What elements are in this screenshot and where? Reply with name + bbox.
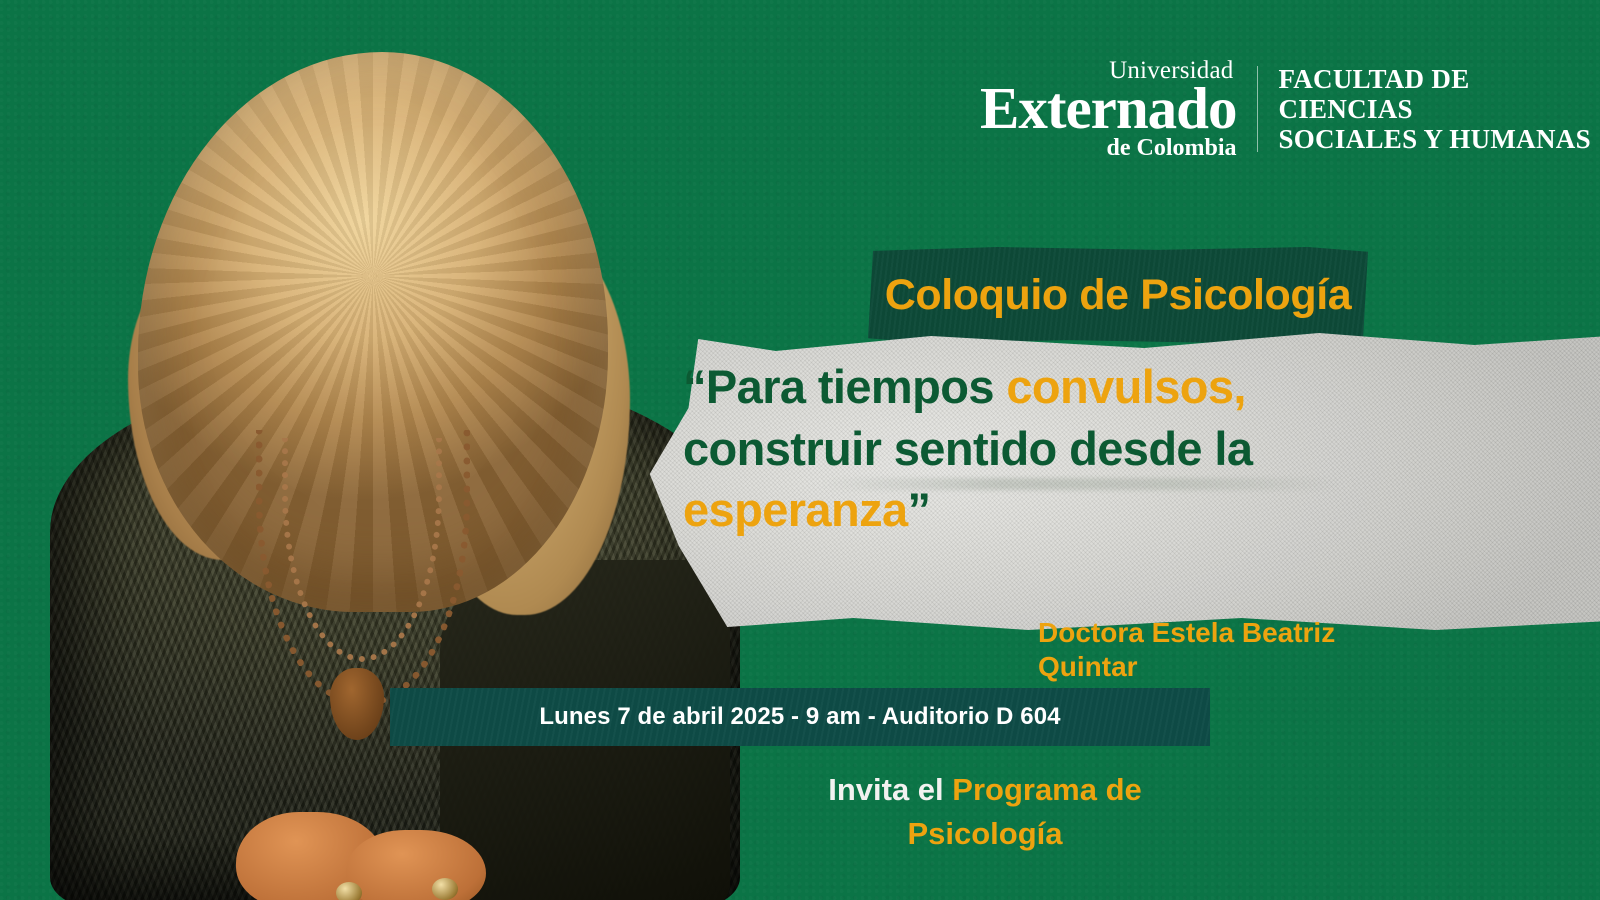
hands (236, 800, 486, 900)
invitation-prefix: Invita el (828, 772, 952, 807)
portrait-illustration (20, 0, 760, 900)
quote-line-3: esperanza” (683, 479, 1583, 541)
quote-line-1-amber: convulsos, (1006, 360, 1246, 413)
colloquium-banner: Coloquio de Psicología (868, 247, 1368, 343)
faculty-name: FACULTAD DE CIENCIAS SOCIALES Y HUMANAS (1278, 64, 1600, 155)
invitation-program-line-2: Psicología (907, 816, 1062, 851)
logo-wordmark: Universidad Externado de Colombia (980, 58, 1237, 160)
quote-line-1-green: “Para tiempos (683, 360, 1006, 413)
quote-line-1: “Para tiempos convulsos, (683, 356, 1583, 418)
necklace (256, 430, 456, 730)
speaker-photo (20, 0, 760, 900)
ring-2 (432, 878, 458, 900)
quote-line-2: construir sentido desde la (683, 418, 1583, 480)
date-location-text: Lunes 7 de abril 2025 - 9 am - Auditorio… (539, 703, 1060, 731)
invitation-block: Invita el Programa de Psicología (740, 768, 1230, 856)
logo-externado: Externado (980, 79, 1237, 138)
invitation-program-line-1: Programa de (952, 772, 1142, 807)
faculty-line-2: SOCIALES Y HUMANAS (1278, 124, 1600, 154)
quote-closing-mark: ” (908, 483, 931, 536)
speaker-name: Doctora Estela Beatriz Quintar (1038, 616, 1438, 684)
logo-divider (1257, 66, 1259, 152)
ring-1 (336, 882, 362, 900)
quote-line-3-amber: esperanza (683, 483, 908, 536)
quote-block: “Para tiempos convulsos, construir senti… (683, 356, 1583, 541)
colloquium-title: Coloquio de Psicología (885, 271, 1352, 320)
necklace-pendant (330, 668, 384, 740)
date-location-banner: Lunes 7 de abril 2025 - 9 am - Auditorio… (390, 688, 1210, 746)
faculty-line-1: FACULTAD DE CIENCIAS (1278, 64, 1600, 124)
event-poster: Universidad Externado de Colombia FACULT… (0, 0, 1600, 900)
hand-right (346, 830, 486, 900)
university-logo: Universidad Externado de Colombia FACULT… (980, 58, 1600, 160)
